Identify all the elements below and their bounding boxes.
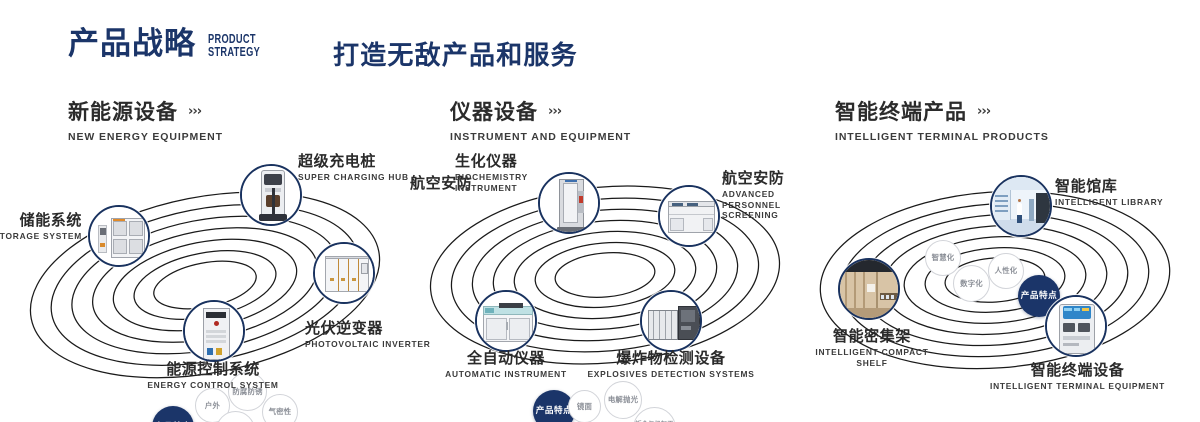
section-heading-instrument: 仪器设备 ››› INSTRUMENT AND EQUIPMENT: [450, 96, 631, 143]
section-heading-en: INSTRUMENT AND EQUIPMENT: [450, 131, 631, 143]
chevron-right-icon: ›››: [548, 104, 561, 119]
section-heading-label: 智能终端产品: [835, 96, 967, 126]
label-intelligent-terminal-equipment: 智能终端设备 INTELLIGENT TERMINAL EQUIPMENT: [955, 362, 1200, 392]
core-bubble-product-features: 产品特点: [152, 406, 194, 422]
node-intelligent-compact-shelf[interactable]: [838, 258, 900, 320]
feature-bubble-humanized: 人性化: [988, 253, 1024, 289]
node-label-en: BIOCHEMISTRY INSTRUMENT: [455, 172, 547, 194]
node-label-cn: 智能密集架: [772, 328, 972, 345]
feature-bubble-label: 户外: [205, 401, 220, 410]
feature-bubble-label: 智慧化: [932, 253, 955, 262]
feature-bubble-digital: 数字化: [953, 265, 990, 302]
node-advanced-personnel-screening[interactable]: [658, 185, 720, 247]
node-label-cn: 全自动仪器: [390, 350, 622, 367]
node-intelligent-terminal-equipment[interactable]: [1045, 295, 1107, 357]
node-label-cn: 储能系统: [0, 212, 82, 229]
section-heading-en: INTELLIGENT TERMINAL PRODUCTS: [835, 131, 1049, 143]
feature-bubble-mirror: 镜面: [568, 390, 601, 422]
battery-cabinet-icon: [90, 207, 148, 265]
node-intelligent-library[interactable]: [990, 175, 1052, 237]
label-energy-control-system: 能源控制系统 ENERGY CONTROL SYSTEM: [88, 361, 338, 391]
feature-bubble-label: 电解抛光: [608, 395, 638, 404]
section-heading-cn: 智能终端产品 ›››: [835, 96, 1049, 126]
feature-bubble-label: 气密性: [269, 407, 292, 416]
cluster-intelligent-terminal: 智慧化 数字化 人性化 产品特点: [790, 150, 1200, 400]
product-strategy-infographic: 产品战略 PRODUCT STRATEGY 打造无敌产品和服务 新能源设备 ››…: [0, 0, 1200, 422]
feature-bubble-label: 镜面: [577, 402, 592, 411]
page-title-en-line1: PRODUCT: [208, 33, 260, 46]
page-title: 产品战略 PRODUCT STRATEGY: [68, 28, 278, 61]
section-heading-new-energy: 新能源设备 ››› NEW ENERGY EQUIPMENT: [68, 96, 223, 143]
control-cabinet-icon: [185, 302, 243, 360]
node-energy-storage-system[interactable]: [88, 205, 150, 267]
label-intelligent-compact-shelf: 智能密集架 INTELLIGENT COMPACT SHELF: [772, 328, 972, 368]
inverter-cabinet-icon: [315, 244, 373, 302]
screening-machine-icon: [660, 187, 718, 245]
node-photovoltaic-inverter[interactable]: [313, 242, 375, 304]
node-automatic-instrument[interactable]: [475, 290, 537, 352]
charging-pile-icon: [242, 166, 300, 224]
node-energy-control-system[interactable]: [183, 300, 245, 362]
chevron-right-icon: ›››: [188, 104, 201, 119]
cluster-instrument: 产品特点 镜面 电解抛光 钣金与机加工结合 零缺陷 航空安防: [400, 150, 800, 400]
node-label-cn: 能源控制系统: [88, 361, 338, 378]
section-heading-en: NEW ENERGY EQUIPMENT: [68, 131, 223, 143]
page-title-en-line2: STRATEGY: [208, 46, 260, 59]
label-intelligent-library: 智能馆库 INTELLIGENT LIBRARY: [1055, 178, 1200, 208]
node-label-cn: 生化仪器: [455, 153, 585, 170]
compact-shelf-icon: [840, 260, 898, 318]
node-label-en: AUTOMATIC INSTRUMENT: [390, 369, 622, 380]
node-label-en: INTELLIGENT COMPACT SHELF: [812, 347, 932, 369]
feature-bubble-intelligent: 智慧化: [925, 240, 961, 276]
label-automatic-instrument: 全自动仪器 AUTOMATIC INSTRUMENT: [390, 350, 622, 380]
core-bubble-label: 产品特点: [536, 406, 572, 416]
node-explosives-detection-systems[interactable]: [640, 290, 702, 352]
section-heading-cn: 仪器设备 ›››: [450, 96, 631, 126]
node-label-cn: 智能馆库: [1055, 178, 1200, 195]
library-room-icon: [992, 177, 1050, 235]
label-energy-storage-system: 储能系统 ENERGY STORAGE SYSTEM: [0, 212, 82, 242]
section-heading-intelligent-terminal: 智能终端产品 ››› INTELLIGENT TERMINAL PRODUCTS: [835, 96, 1049, 143]
node-super-charging-hub[interactable]: [240, 164, 302, 226]
feature-bubble-label: 数字化: [960, 279, 983, 288]
page-title-en: PRODUCT STRATEGY: [208, 33, 260, 59]
node-label-en: INTELLIGENT TERMINAL EQUIPMENT: [955, 381, 1200, 392]
label-biochemistry-instrument: 生化仪器 BIOCHEMISTRY INSTRUMENT: [455, 153, 585, 193]
feature-bubble-label: 人性化: [995, 266, 1018, 275]
page-slogan: 打造无敌产品和服务: [333, 35, 578, 72]
node-label-en: ENERGY CONTROL SYSTEM: [88, 380, 338, 391]
node-label-cn: 智能终端设备: [955, 362, 1200, 379]
kiosk-terminal-icon: [1047, 297, 1105, 355]
section-heading-label: 仪器设备: [450, 96, 538, 126]
section-heading-label: 新能源设备: [68, 96, 178, 126]
feature-bubble-airtight: 气密性: [262, 394, 298, 422]
section-heading-cn: 新能源设备 ›››: [68, 96, 223, 126]
detection-unit-icon: [642, 292, 700, 350]
node-label-en: INTELLIGENT LIBRARY: [1055, 197, 1200, 208]
feature-bubble-electropolishing: 电解抛光: [604, 381, 642, 419]
chevron-right-icon: ›››: [977, 104, 990, 119]
page-title-cn: 产品战略: [68, 28, 196, 61]
auto-analyzer-icon: [477, 292, 535, 350]
node-label-en: ENERGY STORAGE SYSTEM: [0, 231, 82, 242]
cluster-new-energy: 产品特点 户外 防腐防锈 防水防尘 气密性: [0, 150, 400, 400]
